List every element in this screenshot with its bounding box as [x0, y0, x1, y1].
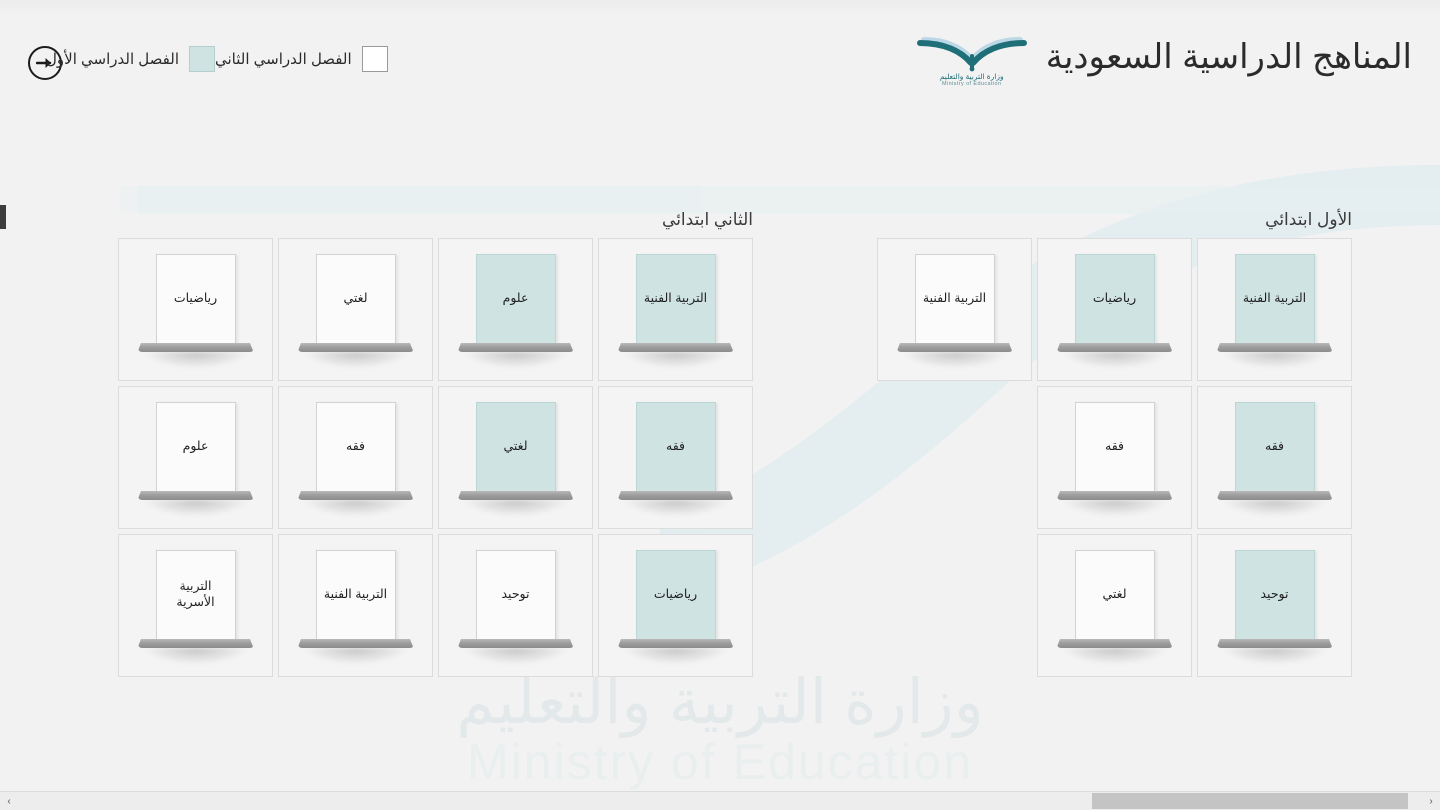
grade-heading-grade-2: الثاني ابتدائي	[662, 210, 753, 230]
book-card[interactable]: التربية الفنية	[877, 238, 1032, 381]
book-shadow	[144, 500, 248, 516]
book-card[interactable]: علوم	[118, 386, 273, 529]
book-card[interactable]: التربية الفنية	[1197, 238, 1352, 381]
book-shelf	[138, 491, 254, 500]
book-shelf	[298, 639, 414, 648]
logo-text-arabic: وزارة التربية والتعليم	[940, 73, 1004, 81]
book-cover: فقه	[1235, 402, 1315, 492]
book-card[interactable]: فقه	[1037, 386, 1192, 529]
watermark-arabic: وزارة التربية والتعليم	[0, 670, 1440, 735]
watermark: وزارة التربية والتعليم Ministry of Educa…	[0, 670, 1440, 788]
book-shadow	[624, 500, 728, 516]
book-cover: فقه	[1075, 402, 1155, 492]
legend-item-semester-2[interactable]: الفصل الدراسي الثاني	[215, 46, 388, 72]
book-grid-grade-1: التربية الفنيةرياضياتالتربية الفنيةفقهفق…	[877, 238, 1352, 677]
book-shadow	[464, 352, 568, 368]
legend-item-semester-1[interactable]: الفصل الدراسي الأول	[46, 46, 215, 72]
book-card[interactable]: لغتي	[278, 238, 433, 381]
book-title: رياضيات	[170, 291, 221, 307]
book-card[interactable]: علوم	[438, 238, 593, 381]
book-shadow	[1063, 648, 1167, 664]
legend-label-semester-1: الفصل الدراسي الأول	[46, 50, 179, 68]
book-cover: لغتي	[1075, 550, 1155, 640]
book-cover: رياضيات	[1075, 254, 1155, 344]
book-cover: علوم	[156, 402, 236, 492]
book-card[interactable]: رياضيات	[598, 534, 753, 677]
book-cover: التربية الفنية	[1235, 254, 1315, 344]
book-title: رياضيات	[650, 587, 701, 603]
book-shelf	[1217, 491, 1333, 500]
book-shadow	[144, 352, 248, 368]
book-shadow	[304, 648, 408, 664]
book-cover: التربية الفنية	[636, 254, 716, 344]
book-title: لغتي	[499, 439, 531, 455]
book-shadow	[464, 648, 568, 664]
book-cover: التربية الفنية	[915, 254, 995, 344]
book-cover: علوم	[476, 254, 556, 344]
grade-heading-grade-1: الأول ابتدائي	[1265, 210, 1352, 230]
book-card[interactable]: لغتي	[438, 386, 593, 529]
legend-label-semester-2: الفصل الدراسي الثاني	[215, 50, 352, 68]
book-cover: لغتي	[316, 254, 396, 344]
legend-swatch-semester-2[interactable]	[362, 46, 388, 72]
book-card[interactable]: التربية الفنية	[278, 534, 433, 677]
book-shelf	[298, 491, 414, 500]
book-shadow	[304, 500, 408, 516]
edge-card-sliver	[0, 205, 6, 229]
book-shelf	[1057, 343, 1173, 352]
book-shadow	[304, 352, 408, 368]
book-cover: لغتي	[476, 402, 556, 492]
book-card[interactable]: رياضيات	[1037, 238, 1192, 381]
book-cover: التربية الفنية	[316, 550, 396, 640]
book-shelf	[298, 343, 414, 352]
book-shadow	[624, 648, 728, 664]
book-shadow	[464, 500, 568, 516]
book-title: رياضيات	[1089, 291, 1140, 307]
book-shelf	[1057, 491, 1173, 500]
scrollbar-right-arrow-icon[interactable]: ›	[1422, 792, 1440, 810]
scrollbar-left-arrow-icon[interactable]: ‹	[0, 792, 18, 810]
book-card[interactable]: فقه	[598, 386, 753, 529]
ministry-logo: وزارة التربية والتعليم Ministry of Educa…	[912, 26, 1032, 88]
book-card-empty-slot	[877, 386, 1032, 529]
book-title: التربية الفنية	[1239, 291, 1310, 307]
book-shadow	[144, 648, 248, 664]
book-shadow	[1063, 352, 1167, 368]
horizontal-scrollbar[interactable]: ‹ ›	[0, 791, 1440, 810]
book-shelf	[138, 343, 254, 352]
book-title: فقه	[342, 439, 369, 455]
book-shadow	[1223, 352, 1327, 368]
book-cover: توحيد	[476, 550, 556, 640]
page-title: المناهج الدراسية السعودية	[1046, 40, 1412, 74]
book-cover: فقه	[316, 402, 396, 492]
book-card[interactable]: التربية الأسرية	[118, 534, 273, 677]
book-shadow	[624, 352, 728, 368]
book-shelf	[897, 343, 1013, 352]
book-card[interactable]: توحيد	[1197, 534, 1352, 677]
scrollbar-thumb[interactable]	[1092, 793, 1408, 809]
book-shelf	[458, 491, 574, 500]
book-title: لغتي	[339, 291, 371, 307]
book-shelf	[458, 639, 574, 648]
book-shelf	[458, 343, 574, 352]
watermark-english: Ministry of Education	[0, 736, 1440, 789]
book-title: فقه	[1101, 439, 1128, 455]
book-title: علوم	[499, 291, 533, 307]
book-shelf	[618, 343, 734, 352]
book-shadow	[903, 352, 1007, 368]
book-title: علوم	[179, 439, 213, 455]
book-cover: التربية الأسرية	[156, 550, 236, 640]
book-title: توحيد	[1257, 587, 1293, 603]
book-shelf	[618, 639, 734, 648]
brand-block: المناهج الدراسية السعودية وزارة التربية …	[912, 26, 1412, 88]
logo-text-english: Ministry of Education	[942, 81, 1001, 89]
book-shelf	[1057, 639, 1173, 648]
book-shelf	[1217, 639, 1333, 648]
book-cover: فقه	[636, 402, 716, 492]
scrollbar-track[interactable]	[18, 792, 1422, 810]
book-title: فقه	[662, 439, 689, 455]
book-title: التربية الفنية	[919, 291, 990, 307]
book-title: التربية الفنية	[640, 291, 711, 307]
book-grid-grade-2: التربية الفنيةعلوملغتيرياضياتفقهلغتيفقهع…	[118, 238, 753, 677]
curriculum-page: وزارة التربية والتعليم Ministry of Educa…	[0, 0, 1440, 810]
book-card[interactable]: فقه	[278, 386, 433, 529]
book-shadow	[1223, 500, 1327, 516]
book-shelf	[618, 491, 734, 500]
book-cover: رياضيات	[636, 550, 716, 640]
book-card-empty-slot	[877, 534, 1032, 677]
book-card[interactable]: لغتي	[1037, 534, 1192, 677]
book-shelf	[1217, 343, 1333, 352]
book-title: لغتي	[1098, 587, 1130, 603]
book-title: توحيد	[498, 587, 534, 603]
book-title: التربية الفنية	[320, 587, 391, 603]
book-wings-icon	[916, 26, 1028, 72]
book-shadow	[1223, 648, 1327, 664]
book-card[interactable]: رياضيات	[118, 238, 273, 381]
book-card[interactable]: التربية الفنية	[598, 238, 753, 381]
book-shelf	[138, 639, 254, 648]
book-cover: توحيد	[1235, 550, 1315, 640]
semester-legend: الفصل الدراسي الأول الفصل الدراسي الثاني	[24, 46, 388, 72]
book-title: فقه	[1261, 439, 1288, 455]
book-card[interactable]: توحيد	[438, 534, 593, 677]
book-cover: رياضيات	[156, 254, 236, 344]
book-shadow	[1063, 500, 1167, 516]
book-title: التربية الأسرية	[157, 579, 235, 610]
legend-swatch-semester-1[interactable]	[189, 46, 215, 72]
book-card[interactable]: فقه	[1197, 386, 1352, 529]
